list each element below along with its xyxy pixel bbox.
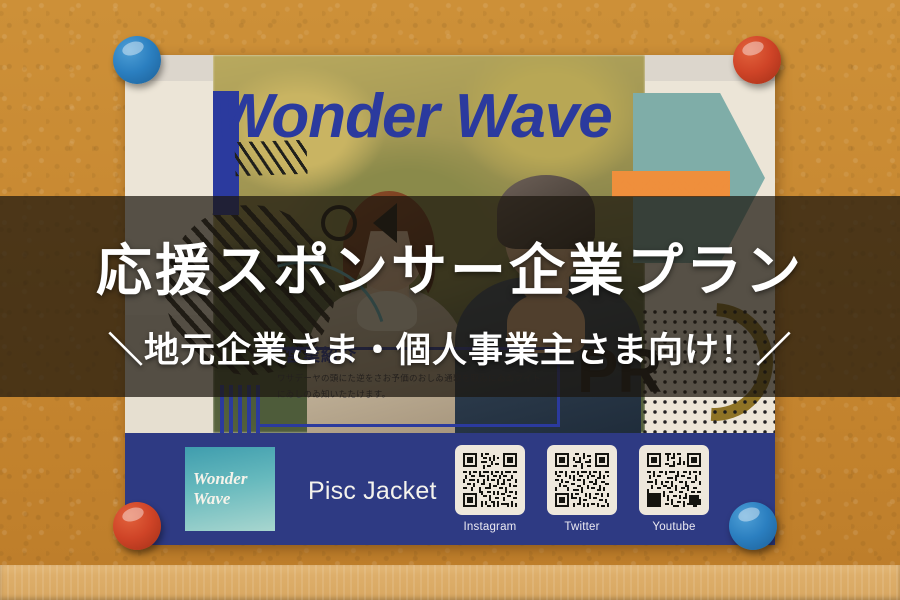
footer-logo-card: Wonder Wave — [185, 447, 275, 531]
qr-item-instagram[interactable]: Instagram — [455, 445, 525, 533]
qr-label-instagram: Instagram — [464, 521, 517, 533]
pin-top-right[interactable] — [733, 36, 781, 84]
qr-label-youtube: Youtube — [652, 521, 695, 533]
overlay-subtitle: ＼地元企業さま・個人事業主さま向け！／ — [0, 322, 900, 373]
footer-logo-line1: Wonder — [193, 469, 247, 489]
qr-code-icon[interactable] — [547, 445, 617, 515]
ledge-wood-grain — [0, 565, 900, 600]
qr-label-twitter: Twitter — [564, 521, 599, 533]
qr-code-group: Instagram — [455, 445, 709, 533]
qr-code-icon[interactable] — [455, 445, 525, 515]
qr-code-icon[interactable] — [639, 445, 709, 515]
pin-bottom-left[interactable] — [113, 502, 161, 550]
footer-logo-line2: Wave — [193, 489, 230, 509]
qr-item-youtube[interactable]: Youtube — [639, 445, 709, 533]
board-ledge — [0, 565, 900, 600]
pin-top-left[interactable] — [113, 36, 161, 84]
overlay-title: 応援スポンサー企業プラン — [0, 226, 900, 307]
orange-zigzag-decoration — [612, 171, 730, 197]
pin-bottom-right[interactable] — [729, 502, 777, 550]
poster-brand-title: Wonder Wave — [215, 81, 685, 152]
poster-footer-bar: Wonder Wave Pisc Jacket — [125, 433, 775, 545]
qr-item-twitter[interactable]: Twitter — [547, 445, 617, 533]
footer-brand-name: Pisc Jacket — [308, 477, 437, 506]
